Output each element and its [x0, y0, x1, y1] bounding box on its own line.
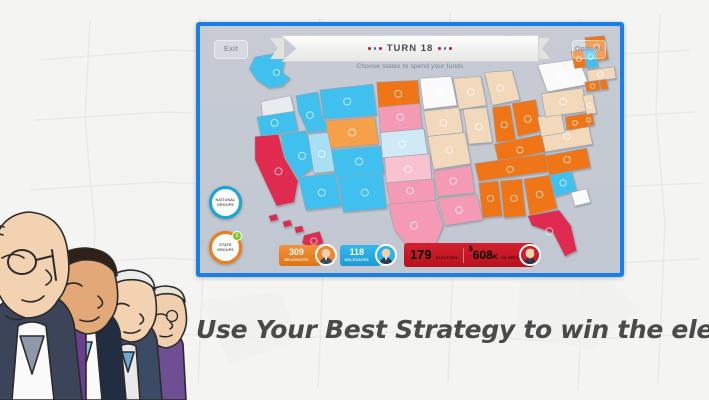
- banner-dots-left-icon: [368, 47, 382, 50]
- score-divider: [463, 248, 464, 263]
- state-OK: [386, 179, 435, 204]
- state-IN: [492, 105, 516, 142]
- state-RI: [599, 79, 608, 90]
- blue-delegates-caption: DELEGATES: [345, 258, 369, 262]
- money-value: 608: [473, 248, 493, 262]
- orange-delegates-caption: DELEGATES: [284, 258, 308, 262]
- score-pill: 179 ELECTORS $608K TO SPEND: [404, 243, 534, 267]
- state-MN: [420, 76, 457, 109]
- tagline: Use Your Best Strategy to win the electi…: [196, 315, 709, 344]
- money-unit: K: [493, 254, 498, 261]
- state-CO: [331, 146, 384, 177]
- state-PA: [541, 88, 586, 117]
- electors-caption: ELECTORS: [436, 256, 458, 260]
- map-canvas[interactable]: Exit Options TURN 18 Choose states to sp…: [200, 26, 620, 273]
- electors-value: 179: [410, 247, 432, 262]
- state-OH: [512, 100, 541, 137]
- blue-candidate-avatar[interactable]: [375, 244, 397, 266]
- state-NE: [381, 129, 428, 158]
- state-MS: [479, 181, 503, 218]
- state-IL: [463, 107, 492, 144]
- state-WV: [538, 113, 565, 136]
- candidate-illustration: [0, 120, 204, 400]
- state-CT: [585, 80, 601, 92]
- hud-bar: 309 DELEGATES 118 DELEGATES: [200, 240, 620, 270]
- banner-dots-right-icon: [438, 47, 452, 50]
- state-WY: [326, 117, 379, 148]
- national-groups-label: NATIONAL GROUPS: [212, 198, 239, 207]
- options-button-label: Options: [575, 46, 604, 53]
- orange-delegates-value: 309: [289, 248, 304, 257]
- turn-label: TURN 18: [387, 43, 434, 54]
- state-IA: [424, 107, 463, 136]
- national-groups-button[interactable]: NATIONAL GROUPS: [209, 186, 242, 219]
- orange-candidate-avatar[interactable]: [315, 244, 337, 266]
- state-LA: [437, 195, 482, 226]
- exit-button-label: Exit: [224, 46, 238, 53]
- state-KS: [384, 154, 431, 183]
- state-AZ: [298, 173, 341, 210]
- state-AR: [434, 165, 475, 196]
- blue-delegates-value: 118: [349, 248, 364, 257]
- state-MT: [320, 84, 377, 119]
- state-NM: [337, 173, 386, 212]
- red-candidate-avatar[interactable]: [519, 244, 541, 266]
- turn-subtitle: Choose states to spend your funds: [356, 63, 463, 70]
- state-MI: [485, 71, 520, 106]
- state-NC: [545, 148, 590, 175]
- state-WI: [453, 76, 486, 109]
- state-AL: [500, 179, 526, 218]
- state-MO: [428, 133, 471, 170]
- exit-button[interactable]: Exit: [214, 40, 248, 59]
- state-SD: [379, 103, 422, 132]
- state-ND: [377, 80, 420, 107]
- options-button[interactable]: Options: [572, 40, 606, 59]
- turn-banner: TURN 18: [281, 35, 539, 62]
- game-panel: Exit Options TURN 18 Choose states to sp…: [196, 22, 624, 277]
- state-NJ: [583, 94, 597, 115]
